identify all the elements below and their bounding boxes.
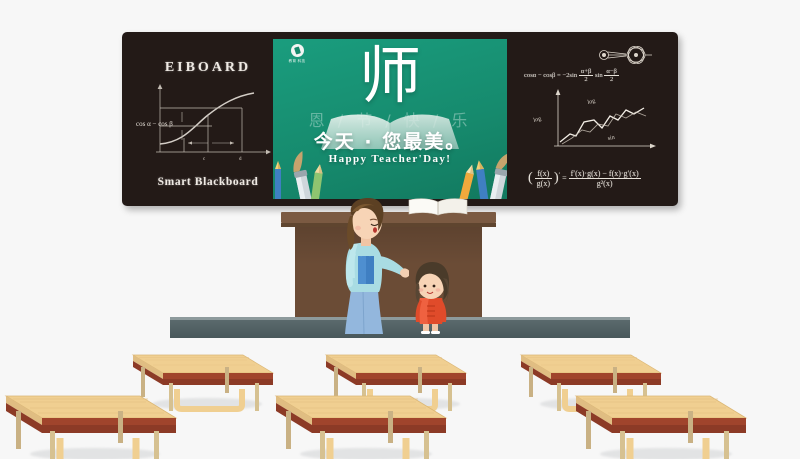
trig-den-2: 2 bbox=[604, 76, 619, 83]
teacher-figure bbox=[333, 198, 409, 334]
blackboard-right-panel[interactable]: cosα − cosβ = −2sin α+β 2 sin α−β 2 bbox=[518, 38, 672, 200]
quotient-prime: ′ bbox=[559, 172, 560, 179]
trig-num-1: α+β bbox=[579, 68, 594, 76]
quotient-rhs-den: g²(x) bbox=[569, 179, 641, 188]
trig-prefix: cosα − cosβ = −2sin bbox=[524, 72, 577, 79]
stationery-left-icon bbox=[273, 149, 327, 199]
atom-diagram-icon bbox=[598, 44, 656, 66]
trig-fraction-2: α−β 2 bbox=[604, 68, 619, 83]
blackboard-center-poster[interactable]: 教育 科技 师 恩 / 节 / 快 / 乐 bbox=[273, 39, 507, 199]
right-panel-jagged-graph: log log sin bbox=[532, 86, 660, 156]
student-figure bbox=[405, 262, 457, 334]
desk-front-left[interactable] bbox=[0, 372, 180, 459]
svg-text:sin: sin bbox=[607, 135, 615, 142]
podium-open-book-icon bbox=[407, 198, 469, 216]
blackboard-left-panel[interactable]: EIBOARD bbox=[128, 38, 288, 200]
classroom-scene: EIBOARD bbox=[0, 0, 800, 459]
quotient-lhs-num: f(x) bbox=[535, 169, 552, 179]
smart-blackboard-label: Smart Blackboard bbox=[128, 176, 288, 188]
svg-text:log: log bbox=[587, 98, 596, 106]
quotient-lhs-den: g(x) bbox=[535, 179, 552, 188]
quotient-rhs-num: f′(x)·g(x) − f(x)·g′(x) bbox=[569, 169, 641, 179]
svg-text:c: c bbox=[203, 157, 206, 162]
left-panel-formula-label: cos α − cos β bbox=[136, 120, 173, 128]
eiboard-title: EIBOARD bbox=[128, 60, 288, 76]
quotient-equals: = bbox=[562, 173, 567, 182]
quotient-rule-formula: ( f(x) g(x) )′ = f′(x)·g(x) − f(x)·g′(x)… bbox=[528, 169, 641, 188]
svg-text:d: d bbox=[239, 157, 242, 162]
trig-den-1: 2 bbox=[579, 76, 594, 83]
poster-big-character: 师 bbox=[273, 45, 507, 107]
desk-front-right[interactable] bbox=[568, 372, 750, 459]
stationery-right-icon bbox=[453, 149, 507, 199]
trig-formula: cosα − cosβ = −2sin α+β 2 sin α−β 2 bbox=[524, 68, 619, 83]
trig-mid: sin bbox=[595, 72, 603, 79]
trig-num-2: α−β bbox=[604, 68, 619, 76]
quotient-rhs: f′(x)·g(x) − f(x)·g′(x) g²(x) bbox=[569, 169, 641, 188]
desk-front-center[interactable] bbox=[268, 372, 450, 459]
trig-fraction-1: α+β 2 bbox=[579, 68, 594, 83]
quotient-lhs: f(x) g(x) bbox=[535, 169, 552, 188]
smart-blackboard[interactable]: EIBOARD bbox=[122, 32, 678, 206]
svg-text:log: log bbox=[533, 116, 542, 124]
